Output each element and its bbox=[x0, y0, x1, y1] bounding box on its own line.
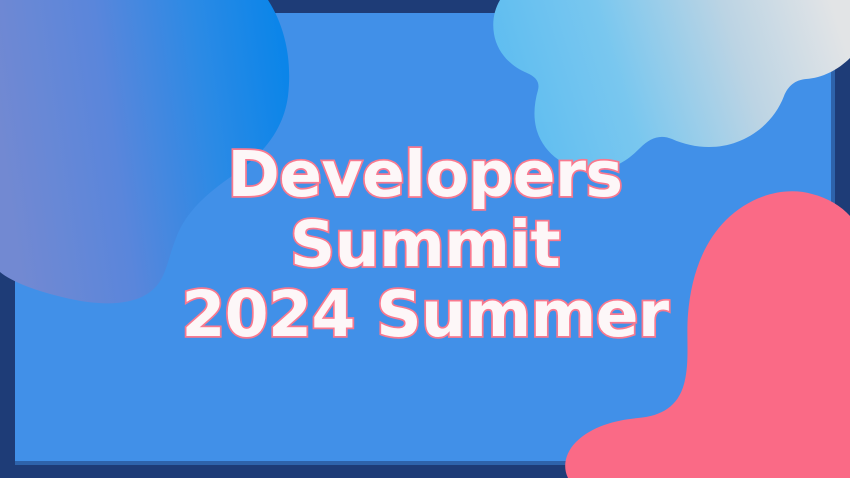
blob-bottom-right bbox=[565, 191, 850, 478]
cloud-top-right bbox=[493, 0, 850, 170]
blob-top-left bbox=[0, 0, 289, 303]
poster-canvas: Developers Summit 2024 Summer bbox=[0, 0, 850, 478]
decorative-shapes-layer bbox=[0, 0, 850, 478]
